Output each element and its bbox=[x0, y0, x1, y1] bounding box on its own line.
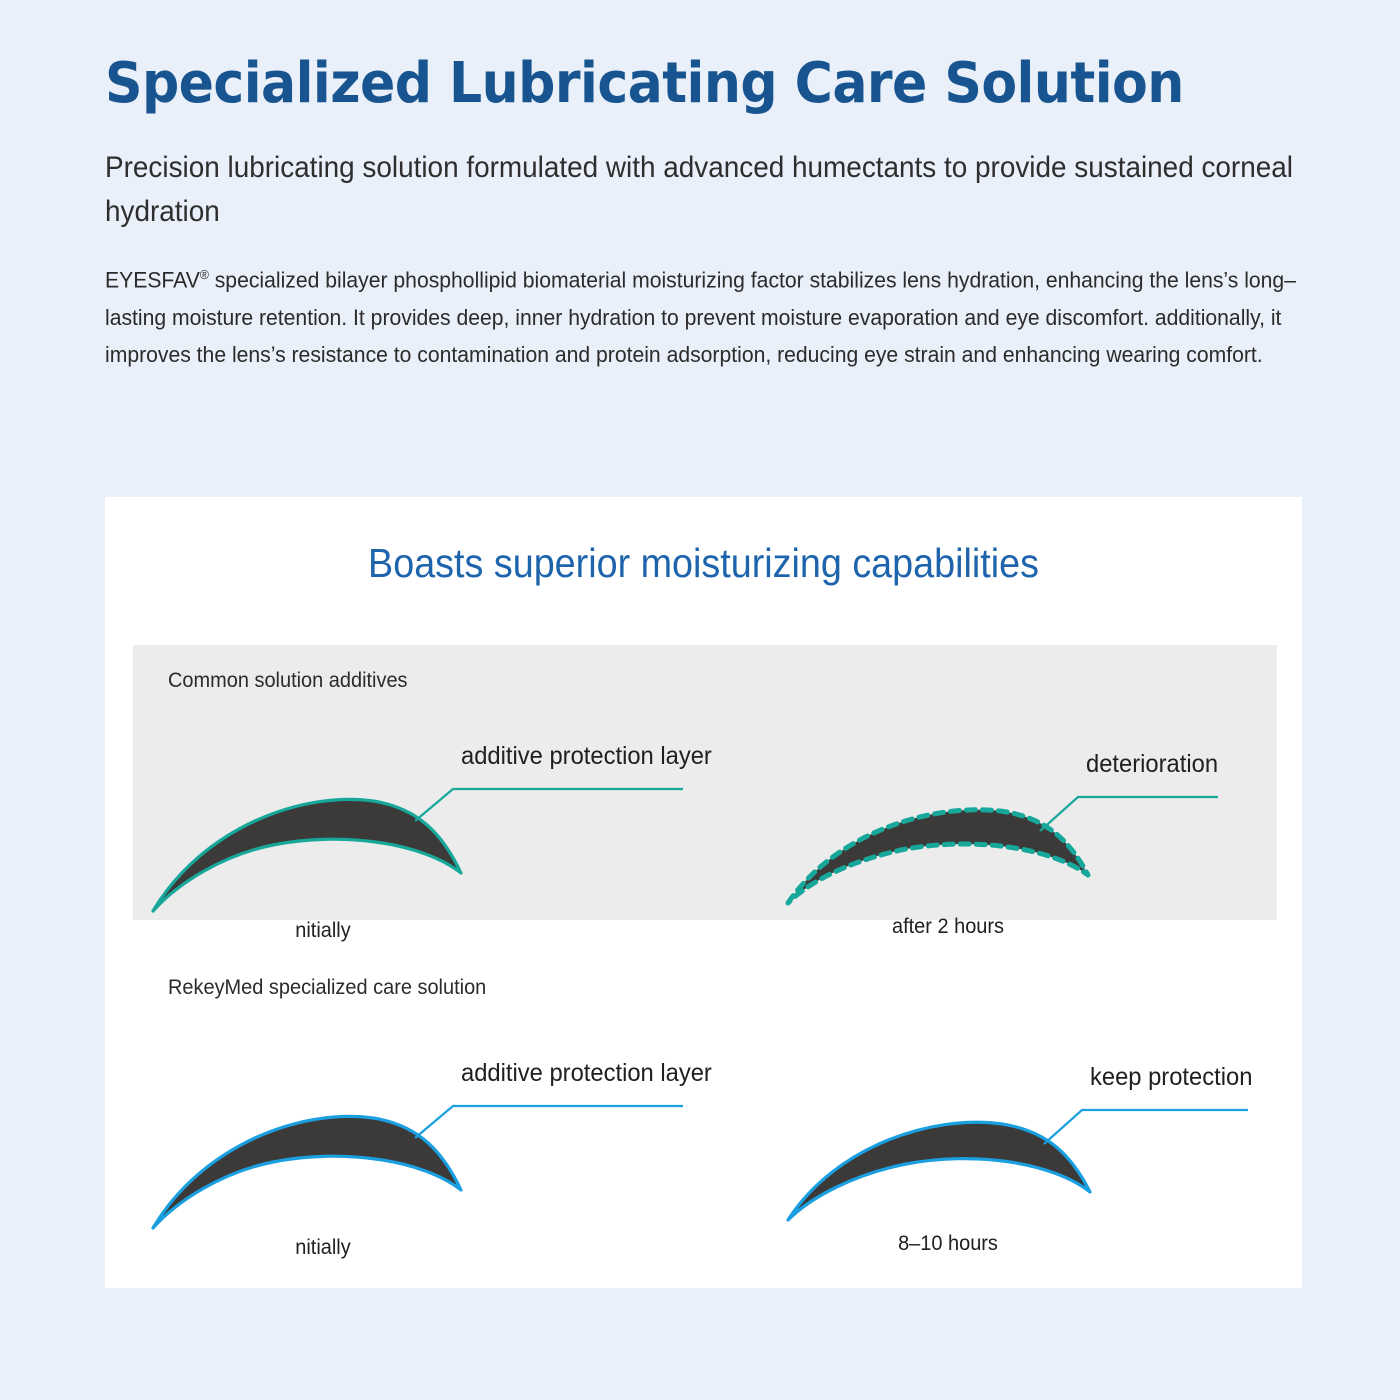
lens-body-shape bbox=[153, 799, 461, 911]
figure-rekeymed-initial: additive protection layer nitially bbox=[143, 1040, 573, 1240]
callout-leader-line bbox=[1040, 797, 1218, 831]
figure-rekeymed-8-10-hours: keep protection 8–10 hours bbox=[778, 1040, 1208, 1240]
panel-label-rekeymed: RekeyMed specialized care solution bbox=[168, 976, 486, 1000]
page-header: Specialized Lubricating Care Solution Pr… bbox=[105, 52, 1305, 373]
page-subtitle: Precision lubricating solution formulate… bbox=[105, 146, 1333, 234]
lens-body-shape bbox=[788, 1122, 1090, 1220]
card-title: Boasts superior moisturizing capabilitie… bbox=[153, 539, 1254, 587]
page-body-text: EYESFAV® specialized bilayer phosphollip… bbox=[105, 256, 1318, 373]
panel-rekeymed-solution: RekeyMed specialized care solution addit… bbox=[133, 952, 1277, 1252]
callout-label-deterioration: deterioration bbox=[1086, 750, 1218, 779]
figure-common-after-2-hours: deterioration after 2 hours bbox=[778, 723, 1208, 923]
panel-label-common: Common solution additives bbox=[168, 669, 408, 693]
callout-leader-line bbox=[415, 1106, 683, 1138]
callout-label-additive-layer: additive protection layer bbox=[461, 742, 712, 771]
figure-common-initial: additive protection layer nitially bbox=[143, 723, 573, 923]
comparison-card: Boasts superior moisturizing capabilitie… bbox=[105, 497, 1302, 1288]
callout-leader-line bbox=[1044, 1110, 1248, 1144]
caption-rekeymed-initial: nitially bbox=[228, 1236, 418, 1260]
callout-label-additive-layer: additive protection layer bbox=[461, 1059, 712, 1088]
caption-rekeymed-8-10-hours: 8–10 hours bbox=[839, 1232, 1058, 1256]
callout-label-keep-protection: keep protection bbox=[1090, 1063, 1252, 1092]
lens-body-shape bbox=[153, 1116, 461, 1228]
body-paragraph: specialized bilayer phosphollipid biomat… bbox=[105, 268, 1296, 367]
caption-common-after-2-hours: after 2 hours bbox=[848, 915, 1048, 939]
caption-common-initial: nitially bbox=[228, 919, 418, 943]
brand-name: EYESFAV bbox=[105, 268, 200, 293]
callout-leader-line bbox=[415, 789, 683, 821]
lens-body-shape-dashed bbox=[788, 810, 1088, 903]
page-title: Specialized Lubricating Care Solution bbox=[105, 52, 1221, 116]
panel-common-solution: Common solution additives additive prote… bbox=[133, 645, 1277, 920]
